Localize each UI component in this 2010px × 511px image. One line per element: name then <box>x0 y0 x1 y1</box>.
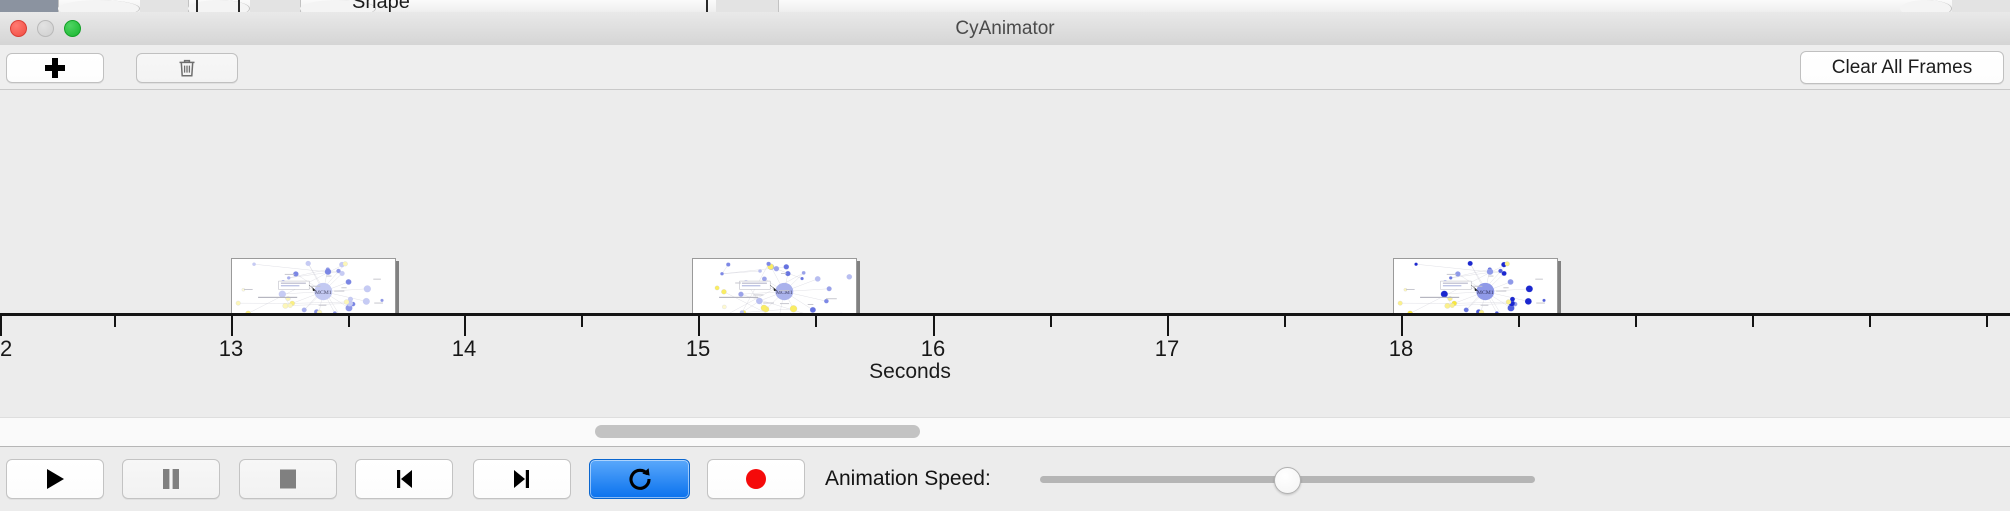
stop-button[interactable] <box>239 459 337 499</box>
axis-tick-major <box>1401 316 1403 336</box>
axis-tick-label: 12 <box>0 336 12 362</box>
clear-all-frames-button[interactable]: Clear All Frames <box>1800 51 2004 84</box>
timeline-frame-thumbnail[interactable]: MCM1 <box>1393 258 1558 315</box>
axis-tick-minor <box>1752 316 1754 327</box>
timeline-frame-thumbnail[interactable]: MCM1 <box>692 258 857 315</box>
axis-tick-major <box>933 316 935 336</box>
bg-tab-3 <box>140 0 189 12</box>
add-frame-button[interactable] <box>6 53 104 83</box>
axis-tick-minor <box>1050 316 1052 327</box>
clear-all-frames-label: Clear All Frames <box>1832 57 1972 79</box>
axis-tick-label: 13 <box>219 336 243 362</box>
loop-button[interactable] <box>589 459 690 499</box>
axis-tick-major <box>231 316 233 336</box>
plus-icon <box>45 58 65 78</box>
scrollbar-thumb[interactable] <box>595 425 920 438</box>
axis-tick-major <box>698 316 700 336</box>
skip-back-button[interactable] <box>355 459 453 499</box>
record-icon <box>744 467 768 491</box>
delete-frame-button[interactable] <box>136 53 238 83</box>
bg-divider-1 <box>196 0 198 12</box>
timeline-frame-thumbnail[interactable]: MCM1 <box>231 258 396 315</box>
pause-button[interactable] <box>122 459 220 499</box>
record-button[interactable] <box>707 459 805 499</box>
axis-tick-label: 14 <box>452 336 476 362</box>
bg-divider-2 <box>238 0 240 12</box>
axis-tick-minor <box>581 316 583 327</box>
stop-icon <box>277 467 299 491</box>
bg-tab-9 <box>1952 0 2010 12</box>
trash-icon <box>178 58 196 78</box>
svg-text:MCM1: MCM1 <box>315 290 332 296</box>
timeline-axis-caption: Seconds <box>869 360 951 384</box>
axis-tick-minor <box>815 316 817 327</box>
axis-tick-minor <box>1869 316 1871 327</box>
bg-tab-1 <box>0 0 59 12</box>
timeline-axis-line <box>0 313 2010 316</box>
axis-tick-label: 17 <box>1155 336 1179 362</box>
timeline-canvas[interactable]: MCM1MCM1MCM1 <box>0 90 2010 315</box>
skip-forward-button[interactable] <box>473 459 571 499</box>
cyanimator-window: Shape CyAnimator Clear All Frames <box>0 0 2010 510</box>
axis-tick-major <box>464 316 466 336</box>
loop-icon <box>627 466 653 492</box>
skip-back-icon <box>393 467 415 491</box>
bg-divider-3 <box>706 0 708 12</box>
axis-tick-label: 16 <box>921 336 945 362</box>
play-icon <box>44 467 66 491</box>
bg-tab-5 <box>250 0 301 12</box>
axis-tick-minor <box>1635 316 1637 327</box>
playback-control-bar: Animation Speed: <box>0 446 2010 511</box>
svg-text:MCM1: MCM1 <box>1477 290 1494 296</box>
axis-tick-major <box>0 316 2 336</box>
axis-tick-label: 15 <box>686 336 710 362</box>
pause-icon <box>161 467 181 491</box>
title-bar: CyAnimator <box>0 12 2010 46</box>
axis-tick-minor <box>1986 316 1988 327</box>
play-button[interactable] <box>6 459 104 499</box>
animation-speed-slider-thumb[interactable] <box>1274 467 1301 494</box>
toolbar: Clear All Frames <box>0 45 2010 90</box>
axis-tick-label: 18 <box>1389 336 1413 362</box>
page-title: CyAnimator <box>0 12 2010 45</box>
axis-tick-minor <box>1518 316 1520 327</box>
axis-tick-minor <box>114 316 116 327</box>
axis-tick-minor <box>1284 316 1286 327</box>
animation-speed-label: Animation Speed: <box>825 459 991 499</box>
bg-tab-7 <box>716 0 779 12</box>
axis-tick-minor <box>348 316 350 327</box>
horizontal-scrollbar[interactable] <box>0 417 2010 447</box>
skip-forward-icon <box>511 467 533 491</box>
axis-tick-major <box>1167 316 1169 336</box>
